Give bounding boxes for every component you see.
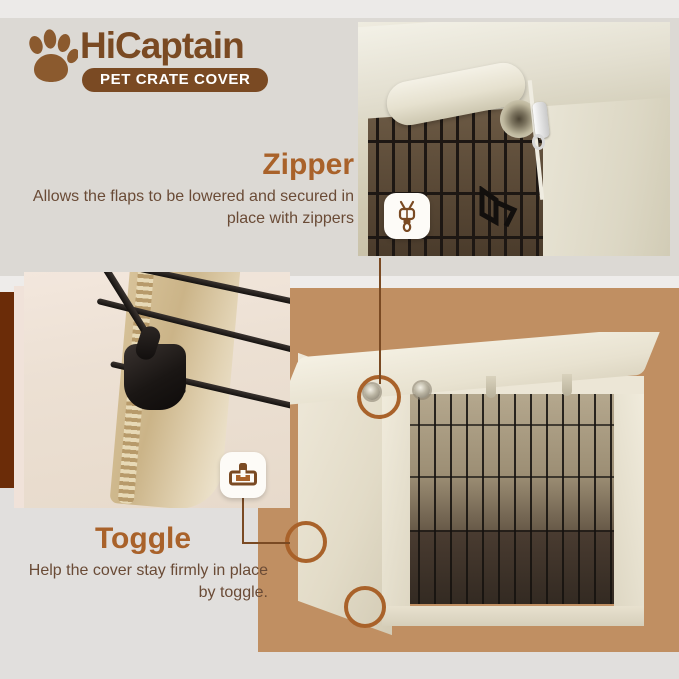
infographic-canvas: HiCaptain PET CRATE COVER — [0, 0, 679, 679]
background-top-band — [0, 0, 679, 18]
product-hero-photo — [290, 332, 668, 638]
feature-toggle-title: Toggle — [18, 522, 268, 556]
cover-grommet — [414, 382, 430, 398]
brand-logo: HiCaptain PET CRATE COVER — [22, 24, 292, 92]
cover-strap — [562, 374, 572, 396]
paw-print-icon — [26, 28, 78, 84]
brand-name: HiCaptain — [80, 26, 244, 66]
crate-door-latch — [476, 186, 522, 230]
cover-front-frame — [382, 376, 644, 626]
feature-zipper-title: Zipper — [28, 148, 354, 182]
zipper-callout-line — [379, 258, 381, 384]
highlight-ring-toggle-bottom — [344, 586, 386, 628]
feature-toggle-description: Help the cover stay firmly in place by t… — [18, 560, 268, 604]
zipper-icon — [393, 200, 421, 232]
feature-toggle-text: Toggle Help the cover stay firmly in pla… — [18, 522, 268, 604]
toggle-icon — [228, 461, 258, 489]
cover-right-wall — [543, 82, 670, 256]
cover-strap — [486, 376, 496, 398]
toggle-clip — [124, 344, 186, 410]
zipper-icon-badge — [384, 193, 430, 239]
highlight-ring-toggle-middle — [285, 521, 327, 563]
toggle-icon-badge — [220, 452, 266, 498]
feature-zipper-text: Zipper Allows the flaps to be lowered an… — [28, 148, 354, 230]
left-accent-bar — [0, 292, 14, 488]
feature-zipper-description: Allows the flaps to be lowered and secur… — [28, 186, 354, 230]
brand-tagline-banner: PET CRATE COVER — [82, 68, 268, 92]
